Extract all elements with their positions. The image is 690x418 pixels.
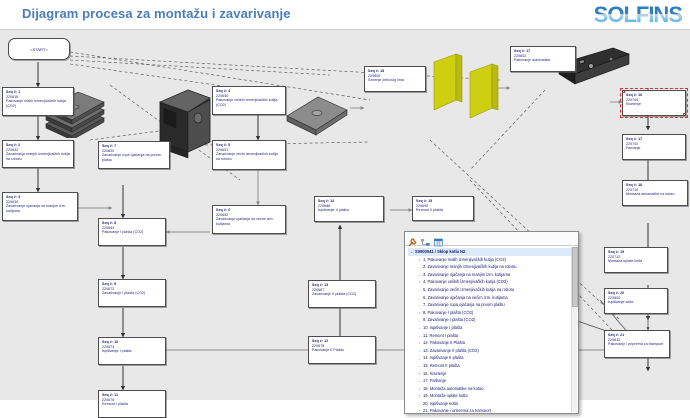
process-node-19[interactable]: Seq #: 19 220712 Montaža oplate kotla	[604, 247, 668, 273]
tree-item-label: 13. Zavarivanje II plašta (CO2)	[423, 347, 479, 355]
solfins-logo: SOLFINS	[594, 2, 682, 28]
tree-item-label: 18. Montaža automatike na kotao	[423, 385, 484, 393]
process-diagram-canvas[interactable]: <START>	[0, 30, 690, 400]
node-label: Montaža oplate kotla	[608, 259, 664, 264]
tree-item-label: 10. Ispitivanje I plašta	[423, 324, 462, 332]
tree-item[interactable]: –9. Zavarivanje I plašta (CO2)	[408, 316, 576, 324]
leaf-dash-icon: –	[416, 318, 423, 323]
tree-item[interactable]: ›1. Pakovanje malih izmenjivačkih kutija…	[408, 256, 576, 264]
node-label: Pakovanje malih izmenjivačkih kutija (CO…	[6, 99, 70, 108]
node-label: Ispitivanje II plašta	[318, 208, 380, 213]
tree-list[interactable]: ⌄ S0000041 / Sklop kotla N2 ›1. Pakovanj…	[405, 246, 578, 412]
chevron-right-icon[interactable]: ›	[416, 339, 423, 347]
node-label: Zavarivanje ojačanja na većim izm. kutij…	[216, 217, 282, 226]
process-node-8[interactable]: Seq #: 8 220664 Pakovanje I plašta (CO2)	[98, 218, 166, 246]
process-node-21[interactable]: Seq #: 21 220812 Pakovanje i priprema za…	[604, 330, 670, 358]
node-label: Remont I plašta	[102, 402, 162, 407]
process-node-1[interactable]: Seq #: 1 220616 Pakovanje malih izmenjiv…	[2, 87, 74, 116]
tree-item[interactable]: ›4. Pakovanje velikih izmenjivačkih kuti…	[408, 278, 576, 286]
node-label: Zavarivanje ojačanja na manjim izm. kuti…	[6, 204, 74, 213]
tree-item[interactable]: –13. Zavarivanje II plašta (CO2)	[408, 347, 576, 355]
tree-item-label: 4. Pakovanje velikih izmenjivačkih kutij…	[423, 278, 508, 286]
chevron-right-icon[interactable]: ›	[416, 407, 423, 412]
leaf-dash-icon: –	[416, 333, 423, 338]
tree-item[interactable]: –5. Zavarivanje većih izmenjivačkih kuti…	[408, 286, 576, 294]
process-node-9[interactable]: Seq #: 9 220672 Zavarivanje I plašta (CO…	[98, 279, 166, 307]
tree-item[interactable]: –6. Zavarivanje ojačanja na većim izm. k…	[408, 294, 576, 302]
leaf-dash-icon: –	[416, 264, 423, 269]
leaf-dash-icon: –	[416, 348, 423, 353]
process-node-4[interactable]: Seq #: 4 220650 Pakovanje velikih izmenj…	[212, 86, 286, 115]
tree-item[interactable]: –7. Zavarivanje rupa ojačanja na prvom p…	[408, 301, 576, 309]
tree-item[interactable]: –15. Remont II plašta	[408, 362, 576, 370]
tree-item-label: 14. Ispitivanje II plašta	[423, 354, 464, 362]
tree-item-label: 12. Pakovanje II Plašta	[423, 339, 465, 347]
node-label: Zavarivanje I plašta (CO2)	[102, 291, 162, 296]
node-label: Zavarivanje većih izmenjivačkih kutija n…	[216, 152, 282, 161]
tree-item-label: 11. Remont I plašta	[423, 332, 458, 340]
part-thumbnail-yellow-sheets[interactable]	[430, 52, 508, 127]
branch-icon[interactable]	[421, 234, 430, 243]
node-label: Ispitivanje kotla	[608, 300, 664, 305]
process-node-16[interactable]: Seq #: 16 220700 Kiselenje	[622, 90, 686, 116]
tree-item[interactable]: –11. Remont I plašta	[408, 332, 576, 340]
leaf-dash-icon: –	[416, 401, 423, 406]
leaf-dash-icon: –	[416, 295, 423, 300]
process-node-15[interactable]: Seq #: 15 220690 Remont II plašta	[412, 196, 474, 221]
application-window: Dijagram procesa za montažu i zavarivanj…	[0, 0, 690, 400]
tree-item-label: 9. Zavarivanje I plašta (CO2)	[423, 316, 475, 324]
node-label: Ispitivanje I plašta	[102, 349, 162, 354]
tree-item-label: 21. Pakovanje i priprema za transport	[423, 407, 491, 412]
process-node-7[interactable]: Seq #: 7 220620 Zavarivanje rupa ojačanj…	[98, 141, 170, 169]
node-label: Pakovanje i priprema za transport	[608, 342, 666, 347]
process-node-2[interactable]: Seq #: 2 220632 Zavarivanje manjih izmen…	[2, 140, 74, 168]
tree-scrollbar[interactable]	[571, 247, 577, 412]
leaf-dash-icon: –	[416, 363, 423, 368]
tree-item[interactable]: ›19. Montaža oplate kotla	[408, 392, 576, 400]
tree-item[interactable]: ›18. Montaža automatike na kotao	[408, 385, 576, 393]
tree-item-label: 7. Zavarivanje rupa ojačanja na prvom pl…	[423, 301, 505, 309]
process-node-10[interactable]: Seq #: 10 220674 Ispitivanje I plašta	[98, 337, 166, 365]
tree-scrollbar-thumb[interactable]	[572, 247, 578, 307]
chevron-right-icon[interactable]: ›	[416, 278, 423, 286]
process-node-14[interactable]: Seq #: 14 220688 Ispitivanje II plašta	[314, 196, 384, 222]
start-node[interactable]: <START>	[8, 38, 70, 60]
leaf-dash-icon: –	[416, 302, 423, 307]
tree-item[interactable]: ›12. Pakovanje II Plašta	[408, 339, 576, 347]
chevron-right-icon[interactable]: ›	[416, 309, 423, 317]
tree-item[interactable]: ›21. Pakovanje i priprema za transport	[408, 407, 576, 412]
tree-root-label: S0000041 / Sklop kotla N2	[415, 248, 465, 256]
tree-item-label: 1. Pakovanje malih izmenjivačkih kutija …	[423, 256, 506, 264]
page-title: Dijagram procesa za montažu i zavarivanj…	[22, 6, 291, 21]
process-node-20[interactable]: Seq #: 20 220800 Ispitivanje kotla	[604, 288, 668, 314]
node-label: Pakovanje velikih izmenjivačkih kutija (…	[216, 98, 282, 107]
tree-item[interactable]: ›16. Kiselenje	[408, 370, 576, 378]
process-node-6[interactable]: Seq #: 6 220652 Zavarivanje ojačanja na …	[212, 205, 286, 234]
node-label: Remont II plašta	[416, 208, 470, 213]
table-icon[interactable]	[434, 234, 443, 243]
tree-item[interactable]: –3. Zavarivanje ojačanja na manjim izm. …	[408, 271, 576, 279]
tree-item-label: 6. Zavarivanje ojačanja na većim izm. ku…	[423, 294, 508, 302]
assembly-tree-panel[interactable]: ⌄ S0000041 / Sklop kotla N2 ›1. Pakovanj…	[404, 231, 579, 414]
page-header: Dijagram procesa za montažu i zavarivanj…	[0, 0, 690, 30]
node-label: Zavarivanje rupa ojačanja na prvom plašt…	[102, 153, 166, 162]
leaf-dash-icon: –	[416, 272, 423, 277]
process-node-automation-packing[interactable]: Seq #: 17 220802 Pakovanje automatike	[510, 46, 576, 72]
tree-item[interactable]: –17. Farbanje	[408, 377, 576, 385]
start-node-label: <START>	[30, 47, 47, 52]
tree-item-label: 19. Montaža oplate kotla	[423, 392, 468, 400]
leaf-dash-icon: –	[416, 287, 423, 292]
tree-item-label: 15. Remont II plašta	[423, 362, 460, 370]
process-node-12[interactable]: Seq #: 12 220678 Pakovanje II Plašta	[308, 336, 376, 364]
tree-item[interactable]: –2. Zavarivanje manjih izmenjivačkih kut…	[408, 263, 576, 271]
chevron-right-icon[interactable]: ›	[416, 370, 423, 378]
process-node-5[interactable]: Seq #: 5 220651 Zavarivanje većih izmenj…	[212, 140, 286, 170]
tree-item-label: 20. Ispitivanje kotla	[423, 400, 458, 408]
leaf-dash-icon: –	[416, 378, 423, 383]
tree-root-item[interactable]: ⌄ S0000041 / Sklop kotla N2	[408, 248, 576, 256]
tree-item-label: 5. Zavarivanje većih izmenjivačkih kutij…	[423, 286, 514, 294]
process-node-sheet-cutting[interactable]: Seq #: 18 220800 Sečenje čeličnog lima	[364, 66, 426, 92]
wrench-icon[interactable]	[408, 234, 417, 243]
tree-item[interactable]: ›8. Pakovanje I plašta (CO2)	[408, 309, 576, 317]
tree-item[interactable]: –10. Ispitivanje I plašta	[408, 324, 576, 332]
leaf-dash-icon: –	[416, 325, 423, 330]
part-thumbnail-plate[interactable]	[284, 92, 350, 141]
chevron-right-icon[interactable]: ›	[416, 385, 423, 393]
tree-item[interactable]: –20. Ispitivanje kotla	[408, 400, 576, 408]
tree-item[interactable]: –14. Ispitivanje II plašta	[408, 354, 576, 362]
node-label: Kiselenje	[626, 102, 682, 107]
tree-items-container: ›1. Pakovanje malih izmenjivačkih kutija…	[408, 256, 576, 412]
process-node-17[interactable]: Seq #: 17 220702 Farbanje	[622, 134, 686, 160]
node-label: Zavarivanje manjih izmenjivačkih kutija …	[6, 152, 70, 161]
tree-item-label: 17. Farbanje	[423, 377, 446, 385]
tree-toolbar[interactable]	[405, 232, 578, 246]
tree-item-label: 2. Zavarivanje manjih izmenjivačkih kuti…	[423, 263, 517, 271]
tree-item-label: 3. Zavarivanje ojačanja na manjim izm. k…	[423, 271, 510, 279]
tree-item-label: 8. Pakovanje I plašta (CO2)	[423, 309, 473, 317]
node-label: Sečenje čeličnog lima	[368, 78, 422, 83]
node-label: Zavarivanje II plašta (CO2)	[312, 292, 372, 297]
process-node-18[interactable]: Seq #: 18 220710 Montaža automatike na k…	[622, 180, 688, 206]
node-label: Montaža automatike na kotao	[626, 192, 684, 197]
chevron-right-icon[interactable]: ›	[416, 392, 423, 400]
node-label: Pakovanje automatike	[514, 58, 572, 63]
node-label: Pakovanje I plašta (CO2)	[102, 230, 162, 235]
tree-item-label: 16. Kiselenje	[423, 370, 446, 378]
process-node-13[interactable]: Seq #: 13 220687 Zavarivanje II plašta (…	[308, 280, 376, 308]
node-label: Pakovanje II Plašta	[312, 348, 372, 353]
process-node-11[interactable]: Seq #: 11 220676 Remont I plašta	[98, 390, 166, 418]
leaf-dash-icon: –	[416, 356, 423, 361]
node-label: Farbanje	[626, 146, 682, 151]
chevron-right-icon[interactable]: ›	[416, 256, 423, 264]
process-node-3[interactable]: Seq #: 3 220630 Zavarivanje ojačanja na …	[2, 192, 78, 221]
chevron-down-icon[interactable]: ⌄	[408, 248, 415, 256]
